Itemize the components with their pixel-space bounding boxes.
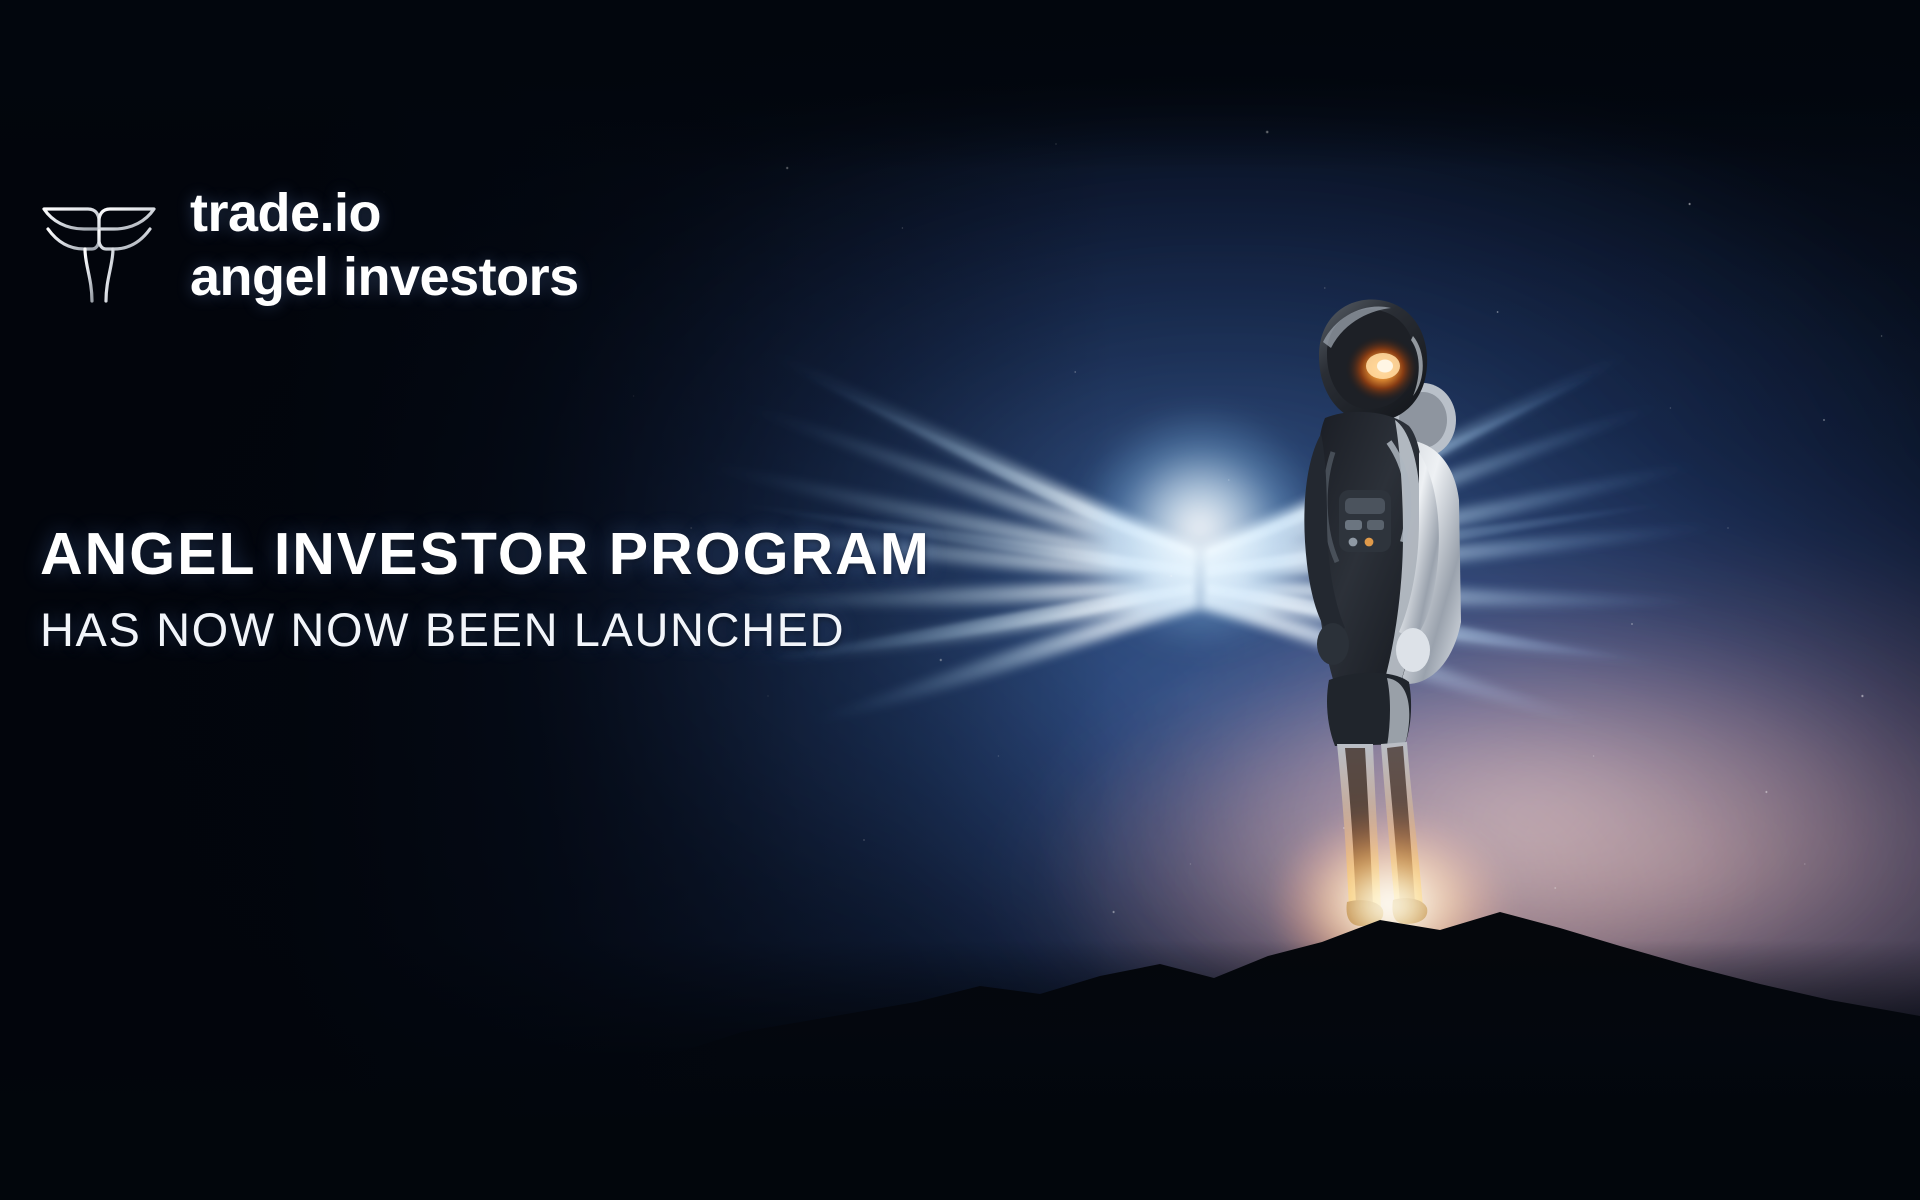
hero-subheadline: HAS NOW NOW BEEN LAUNCHED (40, 606, 1100, 653)
brand-wordmark: trade.io angel investors (190, 186, 579, 304)
angel-investor-banner: trade.io angel investors ANGEL INVESTOR … (0, 0, 1920, 1200)
hero-text-block: ANGEL INVESTOR PROGRAM HAS NOW NOW BEEN … (40, 525, 1100, 653)
banner-content: trade.io angel investors ANGEL INVESTOR … (0, 0, 1920, 1200)
brand-name-line-2: angel investors (190, 250, 579, 304)
brand-name-line-1: trade.io (190, 186, 579, 240)
hero-headline: ANGEL INVESTOR PROGRAM (40, 525, 1100, 584)
trade-io-wings-logo-mark-icon (40, 185, 158, 305)
brand-lockup[interactable]: trade.io angel investors (40, 185, 579, 305)
